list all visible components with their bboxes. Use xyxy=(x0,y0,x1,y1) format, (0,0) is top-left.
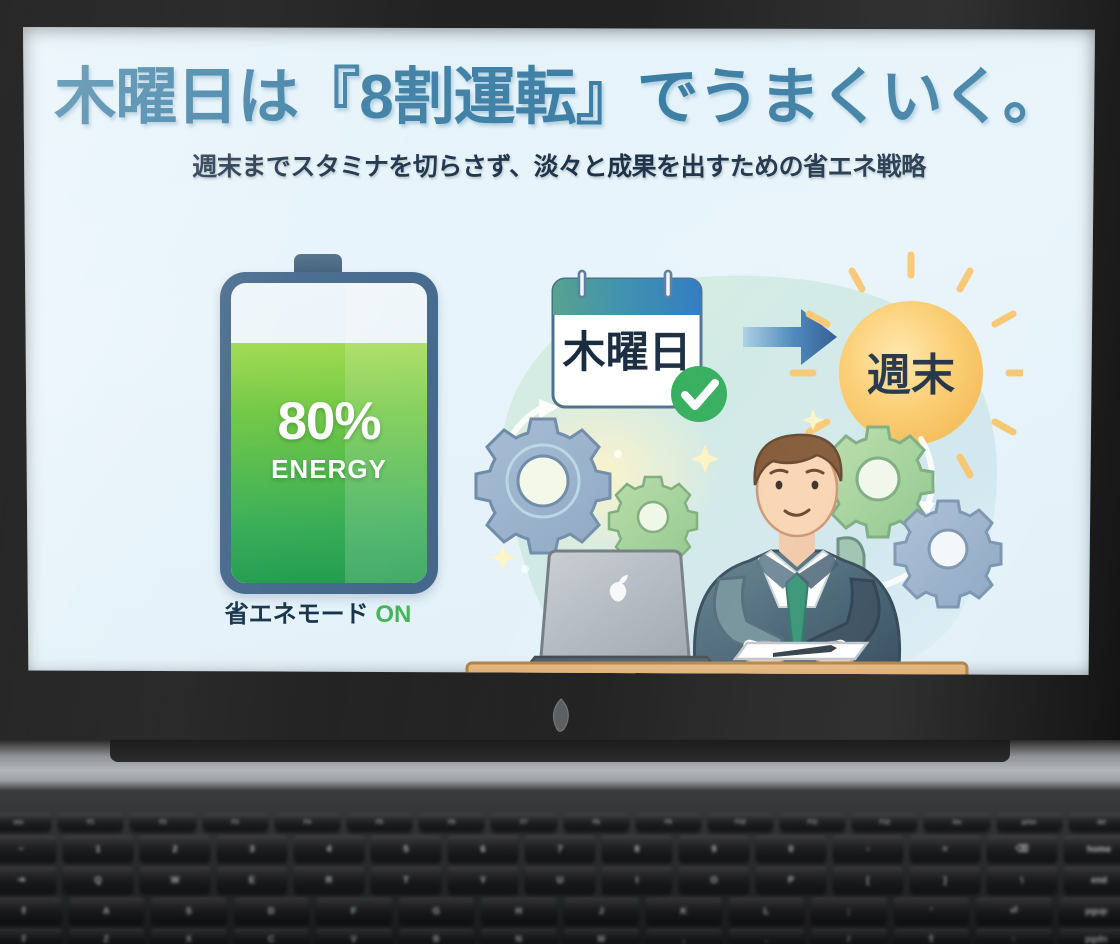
sun-label: 週末 xyxy=(867,351,955,400)
key-label: Q xyxy=(63,875,133,885)
key-a[interactable]: A xyxy=(69,898,145,924)
key-label: I xyxy=(602,875,672,885)
check-circle-icon xyxy=(671,366,727,422)
key-c[interactable]: C xyxy=(234,929,310,944)
key-label: F11 xyxy=(780,820,845,826)
key-label: M xyxy=(564,934,640,944)
key-end[interactable]: end xyxy=(1064,867,1120,893)
key-u[interactable]: U xyxy=(525,867,595,893)
key-y[interactable]: Y xyxy=(448,867,518,893)
key-label: F xyxy=(316,906,392,916)
keyboard[interactable]: escF1F2F3F4F5F6F7F8F9F10F11F12insprtscde… xyxy=(0,814,1120,944)
calendar-day-label: 木曜日 xyxy=(563,329,692,377)
key-[interactable]: \ xyxy=(987,867,1057,893)
key-label: G xyxy=(399,906,475,916)
key-g[interactable]: G xyxy=(399,898,475,924)
eco-mode-caption: 省エネモード ON xyxy=(183,594,453,629)
key-label: ⏎ xyxy=(976,906,1052,917)
battery-label-group: 80% ENERGY xyxy=(231,395,427,482)
key-label: F5 xyxy=(347,820,412,826)
battery-percent: 80% xyxy=(231,395,427,448)
key-label: esc xyxy=(0,820,51,826)
key-e[interactable]: E xyxy=(217,867,287,893)
key-[interactable]: , xyxy=(646,929,722,944)
key-label: ⇪ xyxy=(0,906,62,917)
key-[interactable]: - xyxy=(833,836,903,862)
key-[interactable]: ' xyxy=(894,898,970,924)
key-label: ; xyxy=(811,906,887,916)
key-[interactable]: ⇥ xyxy=(0,867,56,893)
key-label: F9 xyxy=(636,820,701,826)
key-label: [ xyxy=(833,875,903,885)
key-label: 5 xyxy=(371,844,441,854)
key-label: 2 xyxy=(140,844,210,854)
key-label: ⇧ xyxy=(0,934,62,944)
gear-bottom-right xyxy=(895,501,1001,607)
key-ins[interactable]: ins xyxy=(924,814,989,831)
key-label: F3 xyxy=(203,820,268,826)
key-label: \ xyxy=(987,875,1057,885)
battery-shell: 80% ENERGY xyxy=(220,272,438,594)
key-label: F8 xyxy=(564,820,629,826)
key-label: . xyxy=(729,934,805,944)
key-7[interactable]: 7 xyxy=(525,836,595,862)
key-r[interactable]: R xyxy=(294,867,364,893)
key-s[interactable]: S xyxy=(151,898,227,924)
key-label: ↑ xyxy=(976,934,1052,944)
key-q[interactable]: Q xyxy=(63,867,133,893)
key-label: pgup xyxy=(1059,906,1120,916)
laptop-device: 木曜日は『8割運転』でうまくいく。 週末までスタミナを切らさず、淡々と成果を出す… xyxy=(0,0,1120,944)
key-label: X xyxy=(151,934,227,944)
key-x[interactable]: X xyxy=(151,929,227,944)
key-[interactable]: ⌫ xyxy=(987,836,1057,862)
key-[interactable]: ⇧ xyxy=(894,929,970,944)
key-label: F2 xyxy=(130,820,195,826)
key-label: F1 xyxy=(58,820,123,826)
key-9[interactable]: 9 xyxy=(679,836,749,862)
laptop-screen[interactable]: 木曜日は『8割運転』でうまくいく。 週末までスタミナを切らさず、淡々と成果を出す… xyxy=(23,27,1095,675)
key-label: S xyxy=(151,906,227,916)
key-[interactable]: ⏎ xyxy=(976,898,1052,924)
key-b[interactable]: B xyxy=(399,929,475,944)
keyboard-row-home[interactable]: ⇪ASDFGHJKL;'⏎pgup xyxy=(0,898,1120,924)
key-label: N xyxy=(481,934,557,944)
key-[interactable]: ; xyxy=(811,898,887,924)
key-[interactable]: ] xyxy=(910,867,980,893)
key-esc[interactable]: esc xyxy=(0,814,51,831)
key-pgup[interactable]: pgup xyxy=(1059,898,1120,924)
key-[interactable]: ⇪ xyxy=(0,898,62,924)
key-t[interactable]: T xyxy=(371,867,441,893)
key-label: end xyxy=(1064,875,1120,885)
key-4[interactable]: 4 xyxy=(294,836,364,862)
key-label: T xyxy=(371,875,441,885)
key-f6[interactable]: F6 xyxy=(419,814,484,831)
key-z[interactable]: Z xyxy=(69,929,145,944)
key-label: ins xyxy=(924,820,989,826)
key-label: F7 xyxy=(491,820,556,826)
leaf-logo-icon xyxy=(548,698,574,732)
laptop-hinge xyxy=(110,740,1010,762)
key-f10[interactable]: F10 xyxy=(708,814,773,831)
key-del[interactable]: del xyxy=(1069,814,1120,831)
key-label: W xyxy=(140,875,210,885)
key-label: 1 xyxy=(63,844,133,854)
key-label: 0 xyxy=(756,844,826,854)
key-label: F12 xyxy=(852,820,917,826)
slide-subtitle: 週末までスタミナを切らさず、淡々と成果を出すための省エネ戦略 xyxy=(23,155,1095,180)
key-label: del xyxy=(1069,820,1120,826)
key-1[interactable]: 1 xyxy=(63,836,133,862)
key-[interactable]: = xyxy=(910,836,980,862)
key-label: 9 xyxy=(679,844,749,854)
key-label: H xyxy=(481,906,557,916)
key-label: 4 xyxy=(294,844,364,854)
key-k[interactable]: K xyxy=(646,898,722,924)
key-h[interactable]: H xyxy=(481,898,557,924)
key-label: - xyxy=(833,844,903,854)
key-label: home xyxy=(1064,844,1120,854)
key-[interactable]: / xyxy=(811,929,887,944)
key-f2[interactable]: F2 xyxy=(130,814,195,831)
key-o[interactable]: O xyxy=(679,867,749,893)
key-label: 6 xyxy=(448,844,518,854)
key-label: U xyxy=(525,875,595,885)
key-[interactable]: ⇧ xyxy=(0,929,62,944)
key-[interactable]: ↑ xyxy=(976,929,1052,944)
key-0[interactable]: 0 xyxy=(756,836,826,862)
key-f7[interactable]: F7 xyxy=(491,814,556,831)
key-label: Y xyxy=(448,875,518,885)
keyboard-deck: escF1F2F3F4F5F6F7F8F9F10F11F12insprtscde… xyxy=(0,770,1120,944)
presentation-slide: 木曜日は『8割運転』でうまくいく。 週末までスタミナを切らさず、淡々と成果を出す… xyxy=(23,27,1095,675)
key-f[interactable]: F xyxy=(316,898,392,924)
slide-title: 木曜日は『8割運転』でうまくいく。 xyxy=(23,67,1095,129)
key-label: ' xyxy=(894,906,970,916)
key-label: 7 xyxy=(525,844,595,854)
key-label: ~ xyxy=(0,844,56,854)
key-label: L xyxy=(729,906,805,916)
key-prtsc[interactable]: prtsc xyxy=(997,814,1062,831)
key-f11[interactable]: F11 xyxy=(780,814,845,831)
key-label: D xyxy=(234,906,310,916)
key-w[interactable]: W xyxy=(140,867,210,893)
key-label: 3 xyxy=(217,844,287,854)
key-label: P xyxy=(756,875,826,885)
key-label: ] xyxy=(910,875,980,885)
laptop-lid: 木曜日は『8割運転』でうまくいく。 週末までスタミナを切らさず、淡々と成果を出す… xyxy=(0,0,1120,740)
key-i[interactable]: I xyxy=(602,867,672,893)
key-5[interactable]: 5 xyxy=(371,836,441,862)
key-f4[interactable]: F4 xyxy=(275,814,340,831)
key-label: V xyxy=(316,934,392,944)
key-pgdn[interactable]: pgdn xyxy=(1059,929,1120,944)
battery-graphic: 80% ENERGY 省エネモード ON xyxy=(183,252,453,672)
keyboard-row-qwerty[interactable]: ⇥QWERTYUIOP[]\end xyxy=(0,867,1120,893)
key-[interactable]: . xyxy=(729,929,805,944)
key-8[interactable]: 8 xyxy=(602,836,672,862)
key-j[interactable]: J xyxy=(564,898,640,924)
key-f8[interactable]: F8 xyxy=(564,814,629,831)
key-l[interactable]: L xyxy=(729,898,805,924)
key-6[interactable]: 6 xyxy=(448,836,518,862)
key-label: 8 xyxy=(602,844,672,854)
key-[interactable]: ~ xyxy=(0,836,56,862)
key-label: , xyxy=(646,934,722,944)
key-f3[interactable]: F3 xyxy=(203,814,268,831)
key-d[interactable]: D xyxy=(234,898,310,924)
key-f5[interactable]: F5 xyxy=(347,814,412,831)
key-label: ⇥ xyxy=(0,875,56,886)
key-label: E xyxy=(217,875,287,885)
key-label: / xyxy=(811,934,887,944)
laptop-base: escF1F2F3F4F5F6F7F8F9F10F11F12insprtscde… xyxy=(0,740,1120,944)
key-p[interactable]: P xyxy=(756,867,826,893)
key-label: J xyxy=(564,906,640,916)
keyboard-row-shift[interactable]: ⇧ZXCVBNM,./⇧↑pgdn xyxy=(0,929,1120,944)
key-label: A xyxy=(69,906,145,916)
key-label: R xyxy=(294,875,364,885)
key-label: F6 xyxy=(419,820,484,826)
key-label: B xyxy=(399,934,475,944)
key-f1[interactable]: F1 xyxy=(58,814,123,831)
key-2[interactable]: 2 xyxy=(140,836,210,862)
key-label: ⌫ xyxy=(987,844,1057,855)
key-3[interactable]: 3 xyxy=(217,836,287,862)
keyboard-row-function[interactable]: escF1F2F3F4F5F6F7F8F9F10F11F12insprtscde… xyxy=(0,814,1120,831)
key-label: ⇧ xyxy=(894,934,970,944)
key-label: pgdn xyxy=(1059,934,1120,944)
key-n[interactable]: N xyxy=(481,929,557,944)
key-home[interactable]: home xyxy=(1064,836,1120,862)
battery-unit: ENERGY xyxy=(231,456,427,482)
key-label: = xyxy=(910,844,980,854)
key-label: prtsc xyxy=(997,820,1062,826)
key-label: Z xyxy=(69,934,145,944)
key-label: O xyxy=(679,875,749,885)
key-f9[interactable]: F9 xyxy=(636,814,701,831)
key-label: F10 xyxy=(708,820,773,826)
eco-mode-status: ON xyxy=(375,601,411,628)
eco-mode-text: 省エネモード xyxy=(225,601,369,628)
key-label: F4 xyxy=(275,820,340,826)
key-m[interactable]: M xyxy=(564,929,640,944)
keyboard-row-number[interactable]: ~1234567890-=⌫home xyxy=(0,836,1120,862)
key-f12[interactable]: F12 xyxy=(852,814,917,831)
gear-large-left xyxy=(476,419,610,553)
key-label: C xyxy=(234,934,310,944)
key-v[interactable]: V xyxy=(316,929,392,944)
key-[interactable]: [ xyxy=(833,867,903,893)
workflow-illustration: 木曜日 xyxy=(443,249,1023,675)
key-label: K xyxy=(646,906,722,916)
